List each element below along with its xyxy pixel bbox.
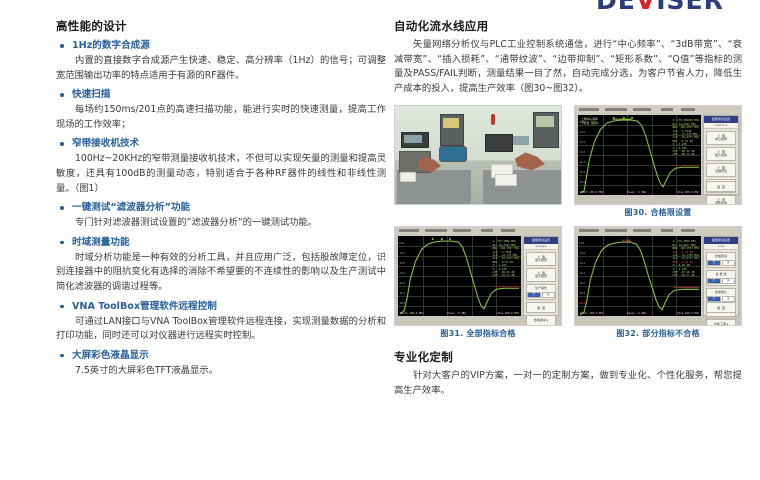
vna-title-bar	[395, 227, 561, 235]
right-section-title: 自动化流水线应用	[394, 18, 742, 34]
list-item: 1Hz的数字合成源 内置的直接数字合成源产生快速、稳定、高分辨率（1Hz）的信号…	[56, 38, 386, 83]
customization-section: 专业化定制 针对大客户的VIP方案，一对一的定制方案，做到专业化、个性化服务，帮…	[394, 349, 742, 398]
vna-power-label: Power -5 dBm	[447, 312, 466, 315]
feature-heading-label: 窄带接收机技术	[72, 138, 139, 149]
figure-grid: 上限中心频率下界值 限值2 1: 170.250000 MHzBw: 1e+75…	[394, 105, 742, 339]
customization-title: 专业化定制	[394, 349, 742, 365]
vna-readouts: 1: 179.2800 MHzBw: 1e+7544 MHzBWL: 148.2…	[492, 240, 519, 277]
figure-photo	[394, 105, 562, 218]
feature-body: 专门针对滤波器测试设置的”滤波器分析”的一键测试功能。	[56, 216, 386, 231]
vna-menu-subheader: Limit	[704, 244, 738, 250]
list-item: 一键测试“滤波器分析”功能 专门针对滤波器测试设置的”滤波器分析”的一键测试功能…	[56, 200, 386, 231]
figure-row: 1: 179.2800 MHzBw: 1e+7544 MHzBWL: 148.2…	[394, 226, 742, 339]
photo-tray-right-2	[495, 174, 517, 186]
figure-caption: 图32. 部分指标不合格	[574, 328, 742, 339]
vna-softkey-menu[interactable]: 极限测试设置 Limit 合格测试 开关 合 格 线 开关 失	[703, 236, 739, 316]
list-item: 大屏彩色液晶显示 7.5英寸的大屏彩色TFT液晶显示。	[56, 348, 386, 379]
vna-stop-label: Stop 400.0 MHz	[497, 312, 519, 315]
vna-softkey-back[interactable]: 返 回	[526, 302, 556, 313]
bullet-icon	[60, 142, 64, 146]
list-item: 窄带接收机技术 100Hz~20KHz的窄带测量接收机技术，不但可以实现矢量的测…	[56, 136, 386, 196]
vna-softkey-5[interactable]: 上 限通带纹波	[706, 195, 736, 205]
vna-limit-line	[494, 286, 519, 287]
feature-body: 7.5英寸的大屏彩色TFT液晶显示。	[56, 364, 386, 379]
photo-turntable-left	[439, 146, 467, 162]
vna-title-field	[605, 108, 627, 111]
left-section-title: 高性能的设计	[56, 18, 386, 34]
vna-softkey-menu[interactable]: 极限测试设置 Analysis 上 限最小频带 上 限最大频带 生产模式 开关 …	[523, 236, 559, 316]
feature-heading: 一键测试“滤波器分析”功能	[56, 200, 386, 215]
feature-heading-label: VNA ToolBox管理软件远程控制	[72, 301, 217, 312]
feature-list: 1Hz的数字合成源 内置的直接数字合成源产生快速、稳定、高分辨率（1Hz）的信号…	[56, 38, 386, 378]
feature-heading: VNA ToolBox管理软件远程控制	[56, 299, 386, 314]
figure-vna-pass: 1: 179.2800 MHzBw: 1e+7544 MHzBWL: 148.2…	[394, 226, 562, 339]
vna-power-label: Power -5 dBm	[627, 191, 646, 194]
vna-menu-header: 极限测试设置	[704, 116, 738, 123]
vna-softkey-menu[interactable]: 极限测试设置 Limit Line 上 限中心频率 上 限插入损耗 上 限衰减带…	[703, 115, 739, 195]
vna-title-field	[681, 108, 695, 111]
vna-softkey-pass-line[interactable]: 合 格 线 开关	[706, 270, 736, 286]
feature-heading-label: 快速扫描	[72, 89, 110, 100]
feature-heading: 大屏彩色液晶显示	[56, 348, 386, 363]
feature-heading: 时域测量功能	[56, 235, 386, 250]
list-item: 快速扫描 每场约150ms/201点的高速扫描功能，能进行实时的快速测量，提高工…	[56, 87, 386, 132]
vna-screen-limit: 上限中心频率下界值 限值2 1: 170.250000 MHzBw: 1e+75…	[574, 105, 742, 205]
feature-heading-label: 大屏彩色液晶显示	[72, 350, 149, 361]
vna-stop-label: Stop 400.0 MHz	[677, 312, 699, 315]
vna-power-label: Power -5 dBm	[627, 312, 646, 315]
vna-title-field	[661, 108, 673, 111]
feature-heading: 快速扫描	[56, 87, 386, 102]
photo-tray-left	[400, 172, 416, 182]
toggle-off[interactable]: 关	[542, 292, 556, 298]
bullet-icon	[60, 206, 64, 210]
vna-plot-area: 上限中心频率下界值 限值2 1: 170.250000 MHzBw: 1e+75…	[578, 115, 701, 195]
automation-section: 自动化流水线应用 矢量网络分析仪与PLC工业控制系统通信，进行“中心频率”、“3…	[394, 18, 742, 399]
bullet-icon	[60, 241, 64, 245]
feature-heading-label: 一键测试“滤波器分析”功能	[72, 202, 190, 213]
photo-instrument-right	[485, 134, 513, 152]
right-column: 自动化流水线应用 矢量网络分析仪与PLC工业控制系统通信，进行“中心频率”、“3…	[394, 0, 742, 402]
vna-menu-subheader: Analysis	[524, 244, 558, 250]
list-item: 时域测量功能 时域分析功能是一种有效的分析工具，并且应用广泛，包括股故障定位，识…	[56, 235, 386, 295]
vna-start-label: Start 100.0 MHz	[400, 312, 423, 315]
photo-hmi-screen-left	[443, 118, 459, 128]
feature-body: 每场约150ms/201点的高速扫描功能，能进行实时的快速测量，提高工作现场的工…	[56, 103, 386, 132]
vna-softkey-lower-limit[interactable]: 合格下限 ▸	[706, 319, 736, 326]
toggle-off[interactable]: 关	[722, 296, 736, 302]
figure-vna-fail: 不合格 1: 170.2500 MHzBw: 1e+2817 MHzBWL: 1…	[574, 226, 742, 339]
vna-softkey-2[interactable]: 上 限插入损耗	[706, 147, 736, 161]
vna-softkey-back[interactable]: 返 回	[706, 302, 736, 313]
vna-menu-subheader: Limit Line	[704, 123, 738, 129]
performance-section: 高性能的设计 1Hz的数字合成源 内置的直接数字合成源产生快速、稳定、高分辨率（…	[56, 18, 386, 378]
feature-body: 100Hz~20KHz的窄带测量接收机技术，不但可以实现矢量的测量和提高灵敏度，…	[56, 152, 386, 196]
vna-softkey-2[interactable]: 上 限最大频带	[526, 268, 556, 282]
photo-instrument-screen-left	[404, 135, 422, 143]
feature-heading: 1Hz的数字合成源	[56, 38, 386, 53]
bullet-icon	[60, 354, 64, 358]
feature-heading-label: 时域测量功能	[72, 237, 130, 248]
vna-start-label: Start 100.0 MHz	[580, 191, 603, 194]
feature-body: 时域分析功能是一种有效的分析工具，并且应用广泛，包括股故障定位，识别连接器中的阻…	[56, 251, 386, 295]
vna-softkey-production-mode[interactable]: 生产模式 开关	[526, 284, 556, 300]
feature-body: 内置的直接数字合成源产生快速、稳定、高分辨率（1Hz）的信号；可调整宽范围输出功…	[56, 54, 386, 83]
figure-vna-limit: 上限中心频率下界值 限值2 1: 170.250000 MHzBw: 1e+75…	[574, 105, 742, 218]
vna-softkey-pass-test[interactable]: 合格测试 ▸	[526, 315, 556, 326]
list-item: VNA ToolBox管理软件远程控制 可通过LAN接口与VNA ToolBox…	[56, 299, 386, 344]
photo-hmi-screen-right	[536, 116, 554, 127]
vna-menu-header: 极限测试设置	[524, 237, 558, 244]
bullet-icon	[60, 44, 64, 48]
vna-softkey-pass-test[interactable]: 合格测试 开关	[706, 252, 736, 268]
photo-indicator-lamp	[491, 114, 495, 125]
bullet-icon	[60, 305, 64, 309]
left-column: 高性能的设计 1Hz的数字合成源 内置的直接数字合成源产生快速、稳定、高分辨率（…	[56, 0, 386, 381]
toggle-on[interactable]: 开	[707, 278, 721, 284]
feature-heading: 窄带接收机技术	[56, 136, 386, 151]
toggle-off[interactable]: 关	[722, 278, 736, 284]
feature-heading-label: 1Hz的数字合成源	[72, 40, 150, 51]
right-section-body: 矢量网络分析仪与PLC工业控制系统通信，进行“中心频率”、“3dB带宽”、“衰减…	[394, 38, 742, 96]
vna-title-bar	[575, 227, 741, 235]
toggle-on[interactable]: 开	[527, 292, 541, 298]
vna-title-field	[579, 108, 599, 111]
vna-softkey-1[interactable]: 上 限最小频带	[526, 252, 556, 266]
figure-caption: 图30. 合格限设置	[574, 207, 742, 218]
vna-title-bar	[575, 106, 741, 114]
vna-readouts: 1: 170.250000 MHzBw: 1e+7541 MHzBWL: 166…	[672, 119, 699, 156]
photo-instrument-screen-right	[513, 136, 529, 145]
vna-softkey-1[interactable]: 上 限中心频率	[706, 131, 736, 145]
vna-softkey-back[interactable]: 返 回	[706, 181, 736, 192]
toggle-on[interactable]: 开	[707, 260, 721, 266]
vna-softkey-3[interactable]: 上 限衰减带宽	[706, 163, 736, 177]
vna-title-field	[633, 108, 651, 111]
vna-stop-label: Stop 400.0 MHz	[677, 191, 699, 194]
vna-start-label: Start 100.0 MHz	[580, 312, 603, 315]
vna-menu-header: 极限测试设置	[704, 237, 738, 244]
toggle-on[interactable]: 开	[707, 296, 721, 302]
bullet-icon	[60, 93, 64, 97]
vna-limit-line	[674, 165, 699, 166]
automation-line-photo	[394, 105, 562, 205]
vna-limit-line	[674, 287, 699, 288]
feature-body: 可通过LAN接口与VNA ToolBox管理软件远程连接，实现测量数据的分析和打…	[56, 315, 386, 344]
vna-plot-area: 不合格 1: 170.2500 MHzBw: 1e+2817 MHzBWL: 1…	[578, 236, 701, 316]
figure-caption: 图31. 全部指标合格	[394, 328, 562, 339]
vna-readouts: 1: 170.2500 MHzBw: 1e+2817 MHzBWL: 148.2…	[672, 240, 699, 277]
vna-plot-area: 1: 179.2800 MHzBw: 1e+7544 MHzBWL: 148.2…	[398, 236, 521, 316]
vna-screen-fail: 不合格 1: 170.2500 MHzBw: 1e+2817 MHzBWL: 1…	[574, 226, 742, 326]
vna-screen-pass: 1: 179.2800 MHzBw: 1e+7544 MHzBWL: 148.2…	[394, 226, 562, 326]
vna-fail-annotation: 不合格	[622, 240, 630, 244]
toggle-off[interactable]: 关	[722, 260, 736, 266]
figure-row: 上限中心频率下界值 限值2 1: 170.250000 MHzBw: 1e+75…	[394, 105, 742, 218]
customization-body: 针对大客户的VIP方案，一对一的定制方案，做到专业化、个性化服务，帮您提高生产效…	[394, 369, 742, 398]
